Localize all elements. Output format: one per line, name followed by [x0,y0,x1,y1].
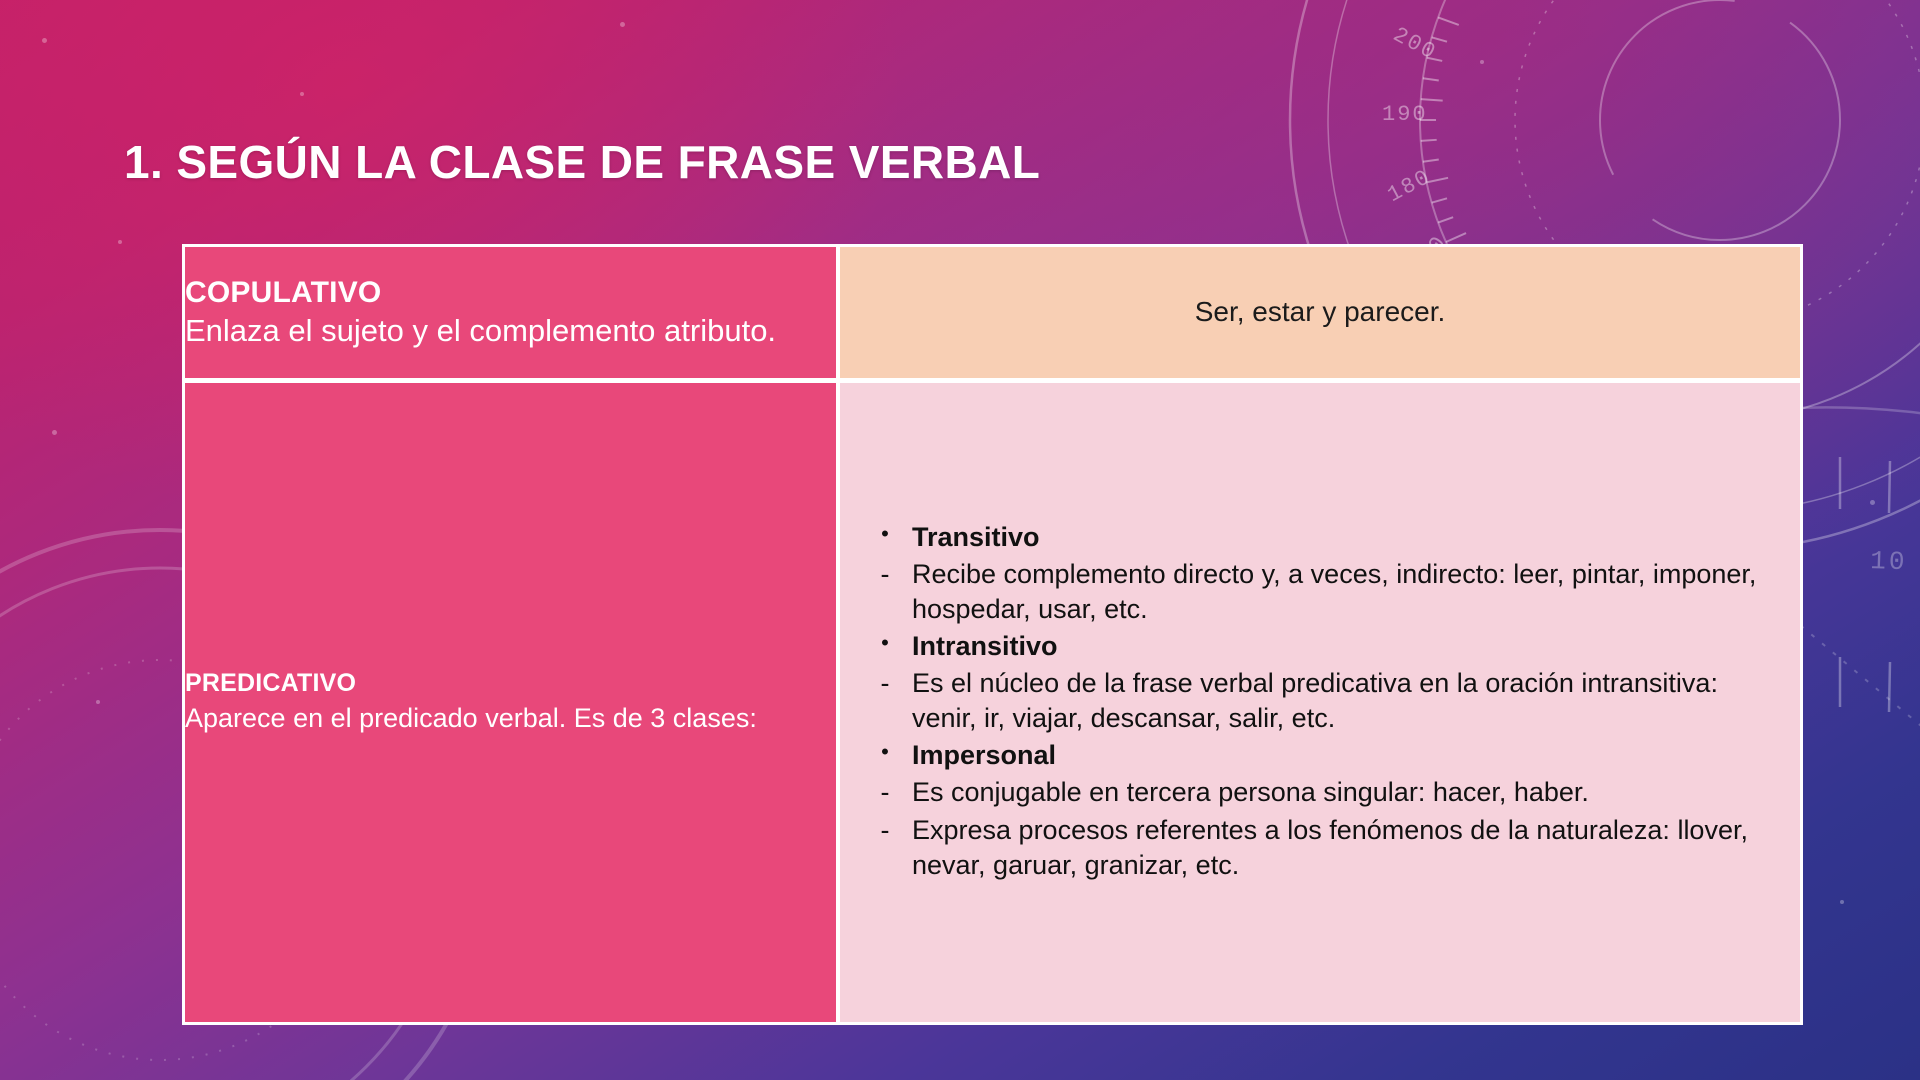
copulativo-examples-cell: Ser, estar y parecer. [840,247,1800,383]
list-item-text: Transitivo [912,520,1778,555]
list-item-text: Es el núcleo de la frase verbal predicat… [912,666,1778,736]
table-row: COPULATIVO Enlaza el sujeto y el complem… [185,247,1800,383]
bullet-dot-icon: • [858,738,912,767]
list-item: -Expresa procesos referentes a los fenóm… [858,813,1778,883]
list-item-text: Intransitivo [912,629,1778,664]
predicativo-description: Aparece en el predicado verbal. Es de 3 … [185,700,836,737]
verb-classification-table: COPULATIVO Enlaza el sujeto y el complem… [185,247,1800,1022]
copulativo-examples-text: Ser, estar y parecer. [840,294,1800,330]
copulativo-cell: COPULATIVO Enlaza el sujeto y el complem… [185,247,840,383]
slide-canvas: 210 200 190 180 170 [0,0,1920,1080]
list-item: -Es el núcleo de la frase verbal predica… [858,666,1778,736]
dial-label-200: 200 [1389,22,1441,65]
dial-label-10: 10 [1870,546,1908,577]
bullet-dash-icon: - [858,666,912,701]
page-title: 1. SEGÚN LA CLASE DE FRASE VERBAL [124,135,1040,189]
predicativo-definition-list: •Transitivo-Recibe complemento directo y… [840,508,1800,897]
dial-label-190: 190 [1382,102,1428,127]
dial-label-210: 210 [1416,0,1462,3]
bullet-dash-icon: - [858,557,912,592]
list-item: -Recibe complemento directo y, a veces, … [858,557,1778,627]
list-item: -Es conjugable en tercera persona singul… [858,775,1778,810]
list-item: •Transitivo [858,520,1778,555]
bullet-dot-icon: • [858,520,912,549]
bullet-dash-icon: - [858,775,912,810]
predicativo-cell: PREDICATIVO Aparece en el predicado verb… [185,383,840,1022]
predicativo-term: PREDICATIVO [185,667,836,700]
list-item-text: Expresa procesos referentes a los fenóme… [912,813,1778,883]
bullet-dash-icon: - [858,813,912,848]
list-item-text: Impersonal [912,738,1778,773]
list-item: •Impersonal [858,738,1778,773]
list-item: •Intransitivo [858,629,1778,664]
copulativo-term: COPULATIVO [185,274,836,311]
bullet-dot-icon: • [858,629,912,658]
dial-label-180: 180 [1384,164,1436,207]
list-item-text: Es conjugable en tercera persona singula… [912,775,1778,810]
predicativo-details-cell: •Transitivo-Recibe complemento directo y… [840,383,1800,1022]
list-item-text: Recibe complemento directo y, a veces, i… [912,557,1778,627]
table-row: PREDICATIVO Aparece en el predicado verb… [185,383,1800,1022]
copulativo-description: Enlaza el sujeto y el complemento atribu… [185,311,836,351]
